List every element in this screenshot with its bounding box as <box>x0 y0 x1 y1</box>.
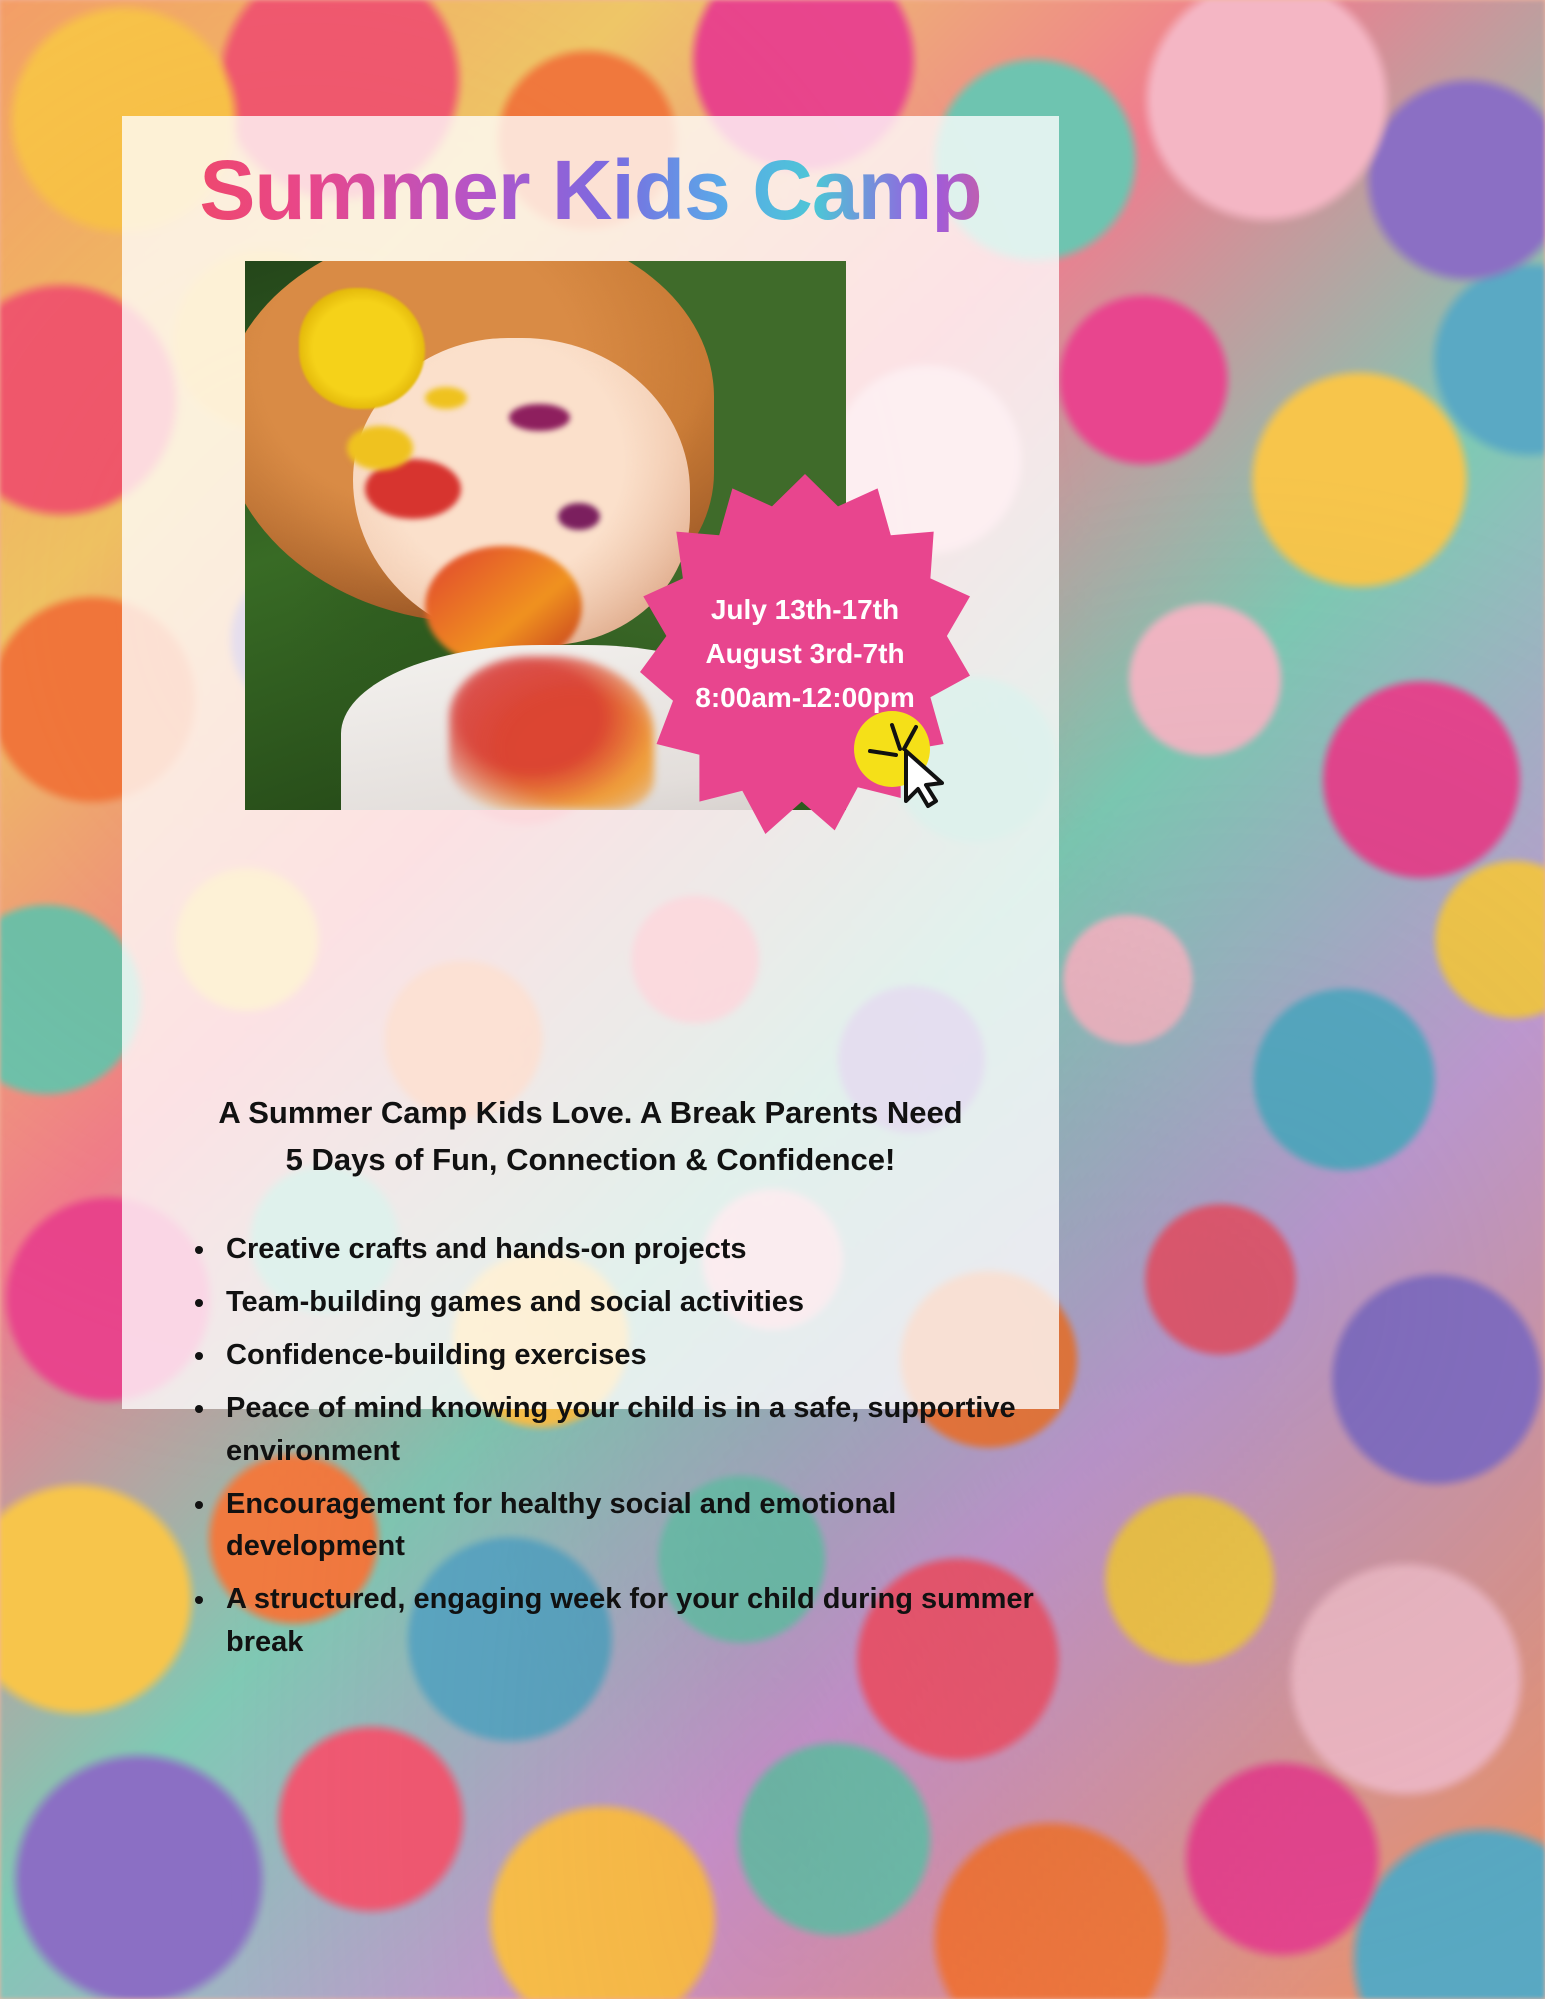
cursor-arrow-icon <box>850 705 950 810</box>
badge-line-1: July 13th-17th <box>711 591 899 629</box>
cursor-sticker <box>850 705 950 810</box>
list-item: Encouragement for healthy social and emo… <box>218 1483 1038 1569</box>
list-item: A structured, engaging week for your chi… <box>218 1578 1038 1664</box>
list-item: Peace of mind knowing your child is in a… <box>218 1387 1038 1473</box>
list-item: Creative crafts and hands-on projects <box>218 1228 1038 1271</box>
photo-paint-yellow <box>347 426 413 470</box>
list-item: Team-building games and social activitie… <box>218 1281 1038 1324</box>
headline-line-1: A Summer Camp Kids Love. A Break Parents… <box>152 1090 1029 1137</box>
photo-paint-magenta <box>558 503 600 530</box>
badge-line-2: August 3rd-7th <box>705 635 904 673</box>
headline: A Summer Camp Kids Love. A Break Parents… <box>152 1090 1029 1183</box>
photo-hair-bow <box>299 288 425 409</box>
page-title: Summer Kids Camp <box>122 148 1059 232</box>
photo-shirt-paint <box>449 656 653 810</box>
headline-line-2: 5 Days of Fun, Connection & Confidence! <box>152 1137 1029 1184</box>
list-item: Confidence-building exercises <box>218 1334 1038 1377</box>
benefits-list: Creative crafts and hands-on projects Te… <box>182 1228 1038 1674</box>
flyer-canvas: Summer Kids Camp July 13th-17th August 3… <box>0 0 1545 1999</box>
photo-paint-purple <box>509 404 569 431</box>
